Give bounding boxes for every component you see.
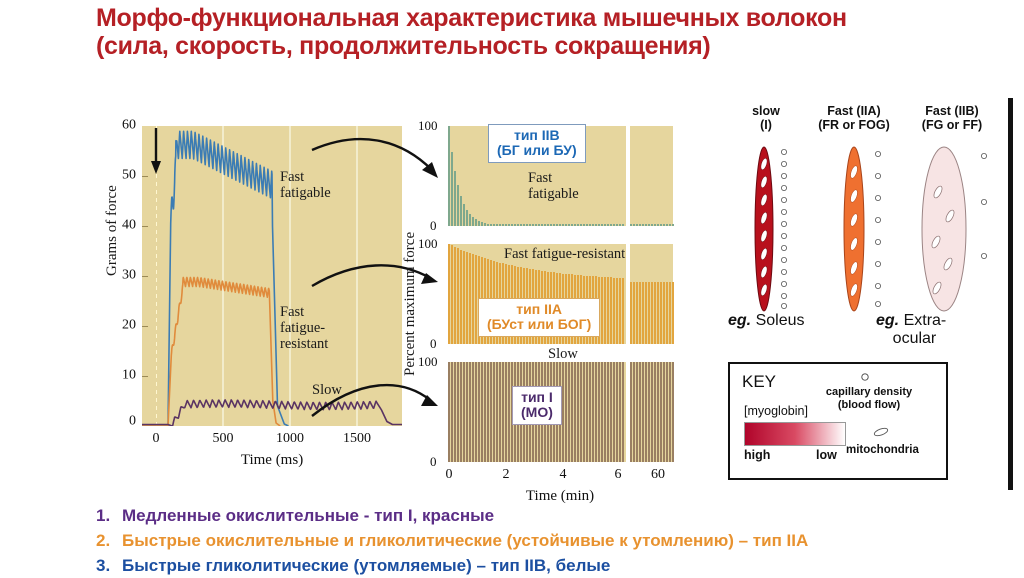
- bar: [636, 224, 638, 226]
- bar: [654, 282, 656, 344]
- bar: [610, 277, 612, 344]
- fiber-example-extraocular: eg. Extra- ocular: [876, 312, 946, 348]
- bar: [472, 254, 474, 344]
- left-xtick-500: 500: [213, 431, 234, 447]
- bar: [553, 224, 555, 226]
- left-ytick-50: 50: [122, 168, 136, 184]
- bar: [598, 224, 600, 226]
- bar: [645, 362, 647, 462]
- mid-xtick-2: 2: [503, 467, 510, 483]
- bar: [466, 362, 468, 462]
- middle-chart: Percent maximum force 100 0 100 0 100 0 …: [400, 126, 700, 486]
- bar: [490, 362, 492, 462]
- list-item: 3. Быстрые гликолитические (утомляемые) …: [96, 553, 1016, 578]
- bar: [457, 362, 459, 462]
- fiber-header-fast-iib: Fast (IIB) (FG or FF): [904, 104, 1000, 132]
- bar: [580, 362, 582, 462]
- bar: [592, 362, 594, 462]
- bar: [651, 362, 653, 462]
- bar: [651, 282, 653, 344]
- bar: [463, 204, 465, 226]
- bar: [451, 245, 453, 344]
- mid-xtick-0: 0: [446, 467, 453, 483]
- panel-divider: [1008, 98, 1013, 490]
- left-ytick-30: 30: [122, 268, 136, 284]
- bar: [475, 362, 477, 462]
- middle-chart-ylabel: Percent maximum force: [402, 232, 419, 376]
- bar: [601, 224, 603, 226]
- bar: [577, 224, 579, 226]
- bar: [586, 224, 588, 226]
- bar: [663, 362, 665, 462]
- bar: [598, 362, 600, 462]
- bar: [565, 224, 567, 226]
- bar: [660, 282, 662, 344]
- bar: [451, 362, 453, 462]
- mid-label-fast-fatigue-resistant: Fast fatigue-resistant: [504, 246, 625, 262]
- bar: [660, 224, 662, 226]
- bar: [463, 362, 465, 462]
- bar: [666, 362, 668, 462]
- bar: [595, 224, 597, 226]
- bar: [448, 362, 450, 462]
- bar: [657, 362, 659, 462]
- bar: [586, 362, 588, 462]
- bar: [547, 224, 549, 226]
- bar: [630, 224, 632, 226]
- bar: [672, 282, 674, 344]
- bar: [448, 126, 450, 226]
- bar: [466, 252, 468, 344]
- bar: [496, 362, 498, 462]
- bullet-text: Быстрые гликолитические (утомляемые) – т…: [122, 553, 610, 578]
- callout-type-i: тип I (МО): [512, 386, 562, 425]
- capillary-icon: [856, 370, 874, 384]
- bar: [559, 224, 561, 226]
- mid-xtick-6: 6: [615, 467, 622, 483]
- key-legend-box: KEY capillary density (blood flow) [myog…: [728, 362, 948, 480]
- left-chart-ylabel: Grams of force: [104, 185, 121, 276]
- bar: [454, 171, 456, 226]
- mid-xtick-4: 4: [560, 467, 567, 483]
- bar: [481, 362, 483, 462]
- bar: [484, 223, 486, 226]
- bar: [538, 224, 540, 226]
- bar: [565, 362, 567, 462]
- bar: [672, 224, 674, 226]
- bar: [648, 282, 650, 344]
- bar: [568, 362, 570, 462]
- bar: [529, 224, 531, 226]
- bar: [633, 282, 635, 344]
- bar: [622, 224, 624, 226]
- fiber-diagram-panel: slow (I) Fast (IIA) (FR or FOG) Fast (II…: [716, 100, 1016, 500]
- bar: [484, 362, 486, 462]
- bar: [645, 282, 647, 344]
- bar: [613, 224, 615, 226]
- stimulus-arrow-icon: [148, 128, 164, 176]
- bar: [610, 362, 612, 462]
- fiber-example-soleus: eg. Soleus: [728, 312, 805, 330]
- slide-root: Морфо-функциональная характеристика мыше…: [0, 0, 1024, 574]
- title-line-1: Морфо-функциональная характеристика мыше…: [96, 4, 847, 32]
- bar: [496, 224, 498, 226]
- bar: [448, 244, 450, 344]
- bar: [630, 362, 632, 462]
- bar: [454, 362, 456, 462]
- bar: [645, 224, 647, 226]
- list-item: 2. Быстрые окислительные и гликолитическ…: [96, 528, 1016, 553]
- bullet-text: Медленные окислительные - тип I, красные: [122, 503, 494, 528]
- bar: [622, 362, 624, 462]
- bar: [595, 362, 597, 462]
- bar: [654, 362, 656, 462]
- bar: [610, 224, 612, 226]
- fiber-header-fast-iia: Fast (IIA) (FR or FOG): [806, 104, 902, 132]
- bar: [460, 362, 462, 462]
- bar: [651, 224, 653, 226]
- mid-label-slow: Slow: [548, 346, 578, 362]
- bar: [454, 247, 456, 344]
- bar: [451, 152, 453, 226]
- bar: [604, 277, 606, 344]
- bar: [601, 362, 603, 462]
- bar: [523, 224, 525, 226]
- bar: [505, 362, 507, 462]
- bar: [502, 362, 504, 462]
- bar: [636, 362, 638, 462]
- title-line-2: (сила, скорость, продолжительность сокра…: [96, 32, 976, 60]
- bar: [544, 224, 546, 226]
- bar: [666, 224, 668, 226]
- bar: [499, 224, 501, 226]
- bar: [607, 224, 609, 226]
- bar: [633, 224, 635, 226]
- myoglobin-gradient-bar: [744, 422, 846, 446]
- bar: [630, 282, 632, 344]
- mid-label-fast-fatigable: Fast fatigable: [528, 170, 579, 202]
- bar: [592, 224, 594, 226]
- muscle-fiber-illustrations: [716, 134, 1008, 324]
- bar: [517, 224, 519, 226]
- bar: [457, 185, 459, 226]
- bar: [616, 362, 618, 462]
- key-title: KEY: [742, 372, 776, 392]
- bar: [642, 224, 644, 226]
- bar: [574, 362, 576, 462]
- bar: [526, 224, 528, 226]
- bar: [589, 362, 591, 462]
- bar: [511, 224, 513, 226]
- bar: [469, 362, 471, 462]
- bar: [663, 224, 665, 226]
- bar: [478, 221, 480, 226]
- bar: [571, 224, 573, 226]
- bar: [616, 224, 618, 226]
- bar: [657, 282, 659, 344]
- bar: [550, 224, 552, 226]
- bar: [633, 362, 635, 462]
- bar: [672, 362, 674, 462]
- bar: [636, 282, 638, 344]
- callout-type-iia: тип IIA (БУст или БОГ): [478, 298, 600, 337]
- bar: [493, 362, 495, 462]
- bar: [657, 224, 659, 226]
- bar: [660, 362, 662, 462]
- bar: [505, 224, 507, 226]
- bar: [463, 251, 465, 344]
- bar: [457, 248, 459, 344]
- bar: [666, 282, 668, 344]
- bullet-number: 3.: [96, 553, 122, 578]
- left-ytick-10: 10: [122, 368, 136, 384]
- key-mitochondria-label: mitochondria: [846, 444, 919, 456]
- bar: [487, 362, 489, 462]
- bar: [583, 224, 585, 226]
- bar: [639, 362, 641, 462]
- fiber-header-slow: slow (I): [732, 104, 800, 132]
- bar: [460, 250, 462, 344]
- bar: [589, 224, 591, 226]
- bar: [562, 362, 564, 462]
- bar: [472, 217, 474, 226]
- bar: [574, 224, 576, 226]
- bar: [499, 362, 501, 462]
- left-xtick-0: 0: [153, 431, 160, 447]
- bar: [568, 224, 570, 226]
- bar: [669, 362, 671, 462]
- bar: [607, 277, 609, 344]
- bar: [481, 222, 483, 226]
- bar: [619, 224, 621, 226]
- bar: [466, 210, 468, 226]
- bar: [460, 196, 462, 226]
- bullet-number: 1.: [96, 503, 122, 528]
- bullet-number: 2.: [96, 528, 122, 553]
- bar: [619, 362, 621, 462]
- bar: [487, 224, 489, 226]
- bar: [639, 282, 641, 344]
- bar: [469, 214, 471, 226]
- bar: [663, 282, 665, 344]
- bar: [520, 224, 522, 226]
- bar: [514, 224, 516, 226]
- bar: [571, 362, 573, 462]
- key-high-label: high: [744, 448, 770, 462]
- bar: [475, 255, 477, 344]
- bar: [616, 278, 618, 344]
- bar: [669, 224, 671, 226]
- callout-type-iib: тип IIB (БГ или БУ): [488, 124, 586, 163]
- bar: [580, 224, 582, 226]
- bar: [577, 362, 579, 462]
- bar: [556, 224, 558, 226]
- bar: [613, 278, 615, 344]
- bar: [654, 224, 656, 226]
- bar: [475, 219, 477, 226]
- bullet-text: Быстрые окислительные и гликолитические …: [122, 528, 808, 553]
- bar: [469, 253, 471, 344]
- bar: [493, 224, 495, 226]
- key-myoglobin-label: [myoglobin]: [744, 404, 808, 418]
- bar: [535, 224, 537, 226]
- bar: [508, 224, 510, 226]
- mid-xtick-60: 60: [651, 467, 665, 483]
- bar: [622, 278, 624, 344]
- bar: [502, 224, 504, 226]
- bar: [648, 362, 650, 462]
- page-title: Морфо-функциональная характеристика мыше…: [96, 4, 976, 60]
- key-low-label: low: [816, 448, 837, 462]
- bar: [642, 362, 644, 462]
- left-ytick-60: 60: [122, 118, 136, 134]
- bar: [508, 362, 510, 462]
- bar: [639, 224, 641, 226]
- bar: [532, 224, 534, 226]
- bar: [642, 282, 644, 344]
- bar: [472, 362, 474, 462]
- mitochondria-icon: [870, 424, 892, 440]
- bar: [669, 282, 671, 344]
- left-ytick-0: 0: [129, 414, 136, 430]
- bullet-list: 1. Медленные окислительные - тип I, крас…: [96, 503, 1016, 578]
- left-ytick-20: 20: [122, 318, 136, 334]
- bar: [613, 362, 615, 462]
- axis-break-1: [626, 126, 630, 226]
- list-item: 1. Медленные окислительные - тип I, крас…: [96, 503, 1016, 528]
- figure-area: Grams of force 60 50 40 30 20 10 0: [0, 100, 1024, 500]
- bar: [541, 224, 543, 226]
- bar: [478, 362, 480, 462]
- bar: [607, 362, 609, 462]
- bar: [619, 278, 621, 344]
- bar: [562, 224, 564, 226]
- bar: [490, 224, 492, 226]
- bar: [604, 362, 606, 462]
- key-capillary-label: capillary density (blood flow): [814, 386, 924, 412]
- bar: [601, 277, 603, 344]
- bar: [604, 224, 606, 226]
- left-ytick-40: 40: [122, 218, 136, 234]
- bar: [648, 224, 650, 226]
- bar: [583, 362, 585, 462]
